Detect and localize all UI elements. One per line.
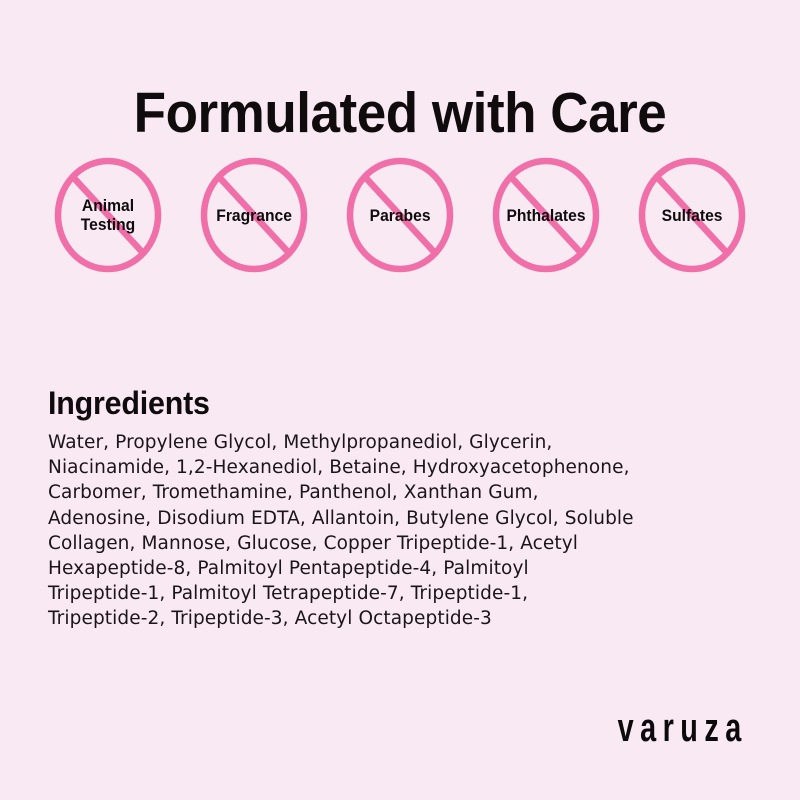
ingredients-line: Water, Propylene Glycol, Methylpropanedi… — [48, 430, 764, 455]
ingredients-line: Adenosine, Disodium EDTA, Allantoin, But… — [48, 506, 764, 531]
badge-label: Phthalates — [506, 206, 585, 225]
free-from-badge-row: Animal TestingFragranceParabesPhthalates… — [0, 155, 800, 285]
ingredients-line: Tripeptide-1, Palmitoyl Tetrapeptide-7, … — [48, 581, 764, 606]
badge-label: Parabes — [370, 206, 431, 225]
product-info-card: Formulated with Care Animal TestingFragr… — [0, 0, 800, 800]
page-title: Formulated with Care — [28, 82, 772, 144]
badge-label: Sulfates — [662, 206, 723, 225]
free-from-badge: Fragrance — [198, 155, 310, 275]
ingredients-line: Hexapeptide-8, Palmitoyl Pentapeptide-4,… — [48, 556, 764, 581]
ingredients-line: Carbomer, Tromethamine, Panthenol, Xanth… — [48, 480, 764, 505]
free-from-badge: Phthalates — [490, 155, 602, 275]
free-from-badge: Parabes — [344, 155, 456, 275]
ingredients-line: Niacinamide, 1,2-Hexanediol, Betaine, Hy… — [48, 455, 764, 480]
ingredients-heading: Ingredients — [48, 384, 210, 422]
badge-label: Fragrance — [216, 206, 292, 225]
ingredients-line: Tripeptide-2, Tripeptide-3, Acetyl Octap… — [48, 606, 764, 631]
ingredients-list: Water, Propylene Glycol, Methylpropanedi… — [48, 430, 764, 632]
badge-label: Animal Testing — [68, 196, 147, 234]
free-from-badge: Sulfates — [636, 155, 748, 275]
free-from-badge: Animal Testing — [52, 155, 164, 275]
ingredients-line: Collagen, Mannose, Glucose, Copper Tripe… — [48, 531, 764, 556]
brand-logo: varuza — [618, 706, 748, 750]
